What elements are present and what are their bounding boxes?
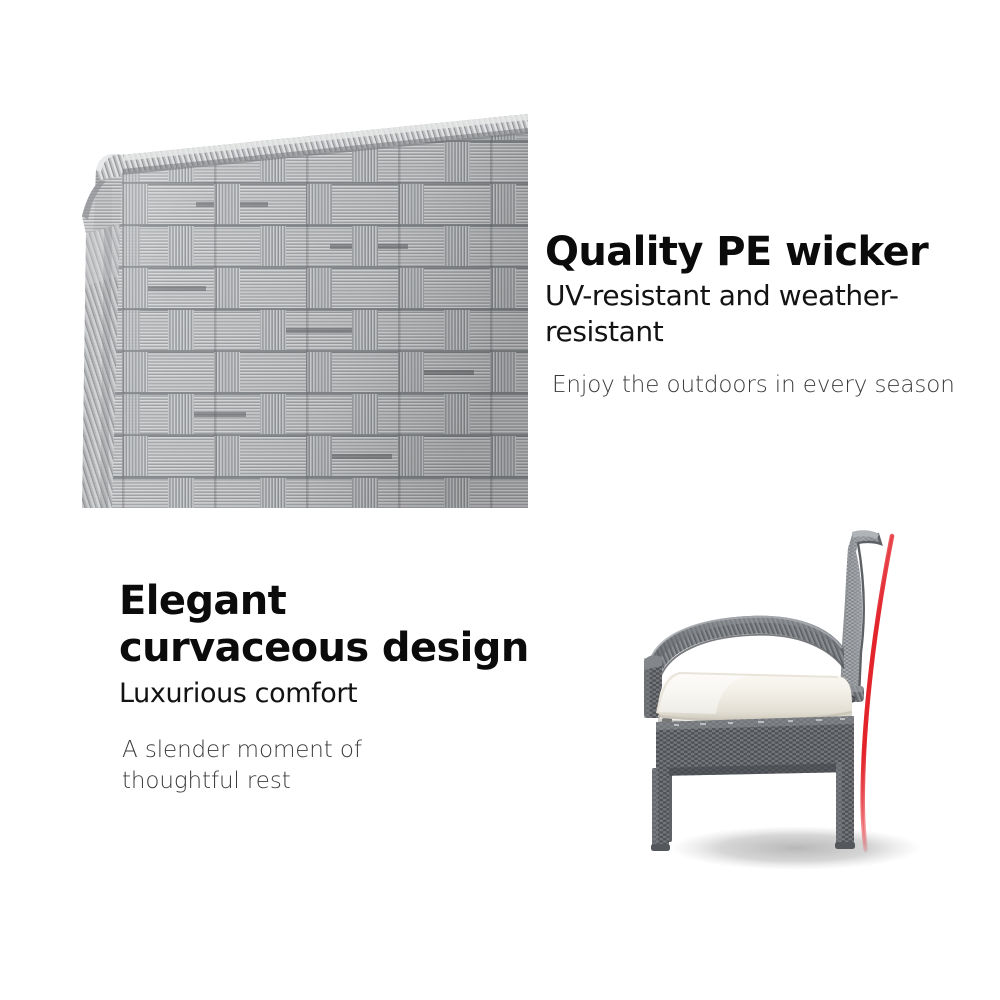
chair-ground-shadow [670,826,922,870]
feature-headline-line-1: Elegant [119,578,286,624]
feature-tagline-slender-moment: A slender moment of thoughtful rest [119,735,539,797]
feature-tagline-line-1: A slender moment of [122,735,539,766]
chair-seat-apron [656,716,854,776]
pe-wicker-weave-closeup [0,96,528,508]
feature-tagline-line-2: thoughtful rest [122,766,539,797]
feature-block-quality-pe-wicker: Quality PE wicker UV-resistant and weath… [545,228,1000,400]
chair-leg-back-right [835,762,855,849]
feature-headline-elegant-curvaceous: Elegant curvaceous design [119,578,539,672]
feature-subhead-luxurious-comfort: Luxurious comfort [119,676,539,711]
feature-headline-quality-pe-wicker: Quality PE wicker [545,228,1000,276]
feature-tagline-enjoy-outdoors: Enjoy the outdoors in every season [545,370,1000,400]
rattan-armchair-side-profile [600,500,1000,900]
feature-subhead-uv-weather-resistant: UV-resistant and weather-resistant [545,278,1000,350]
feature-headline-line-2: curvaceous design [119,625,529,671]
feature-block-elegant-curvaceous-design: Elegant curvaceous design Luxurious comf… [119,578,539,797]
product-feature-panel: Quality PE wicker UV-resistant and weath… [0,0,1000,1000]
chair-leg-front-left [651,768,670,851]
